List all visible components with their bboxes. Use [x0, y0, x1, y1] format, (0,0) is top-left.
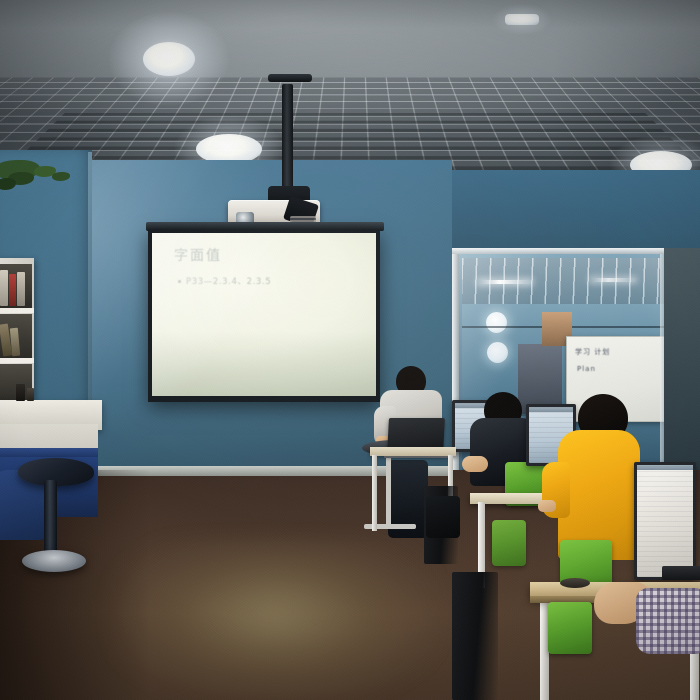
- whiteboard-text-line-1: 学习 计划: [575, 347, 610, 357]
- glass-frame-top: [452, 248, 700, 254]
- student-plaid-sleeve: [636, 588, 700, 654]
- bookshelf-shelf: [0, 358, 34, 363]
- classroom-photo: 字面值 P33—2.3.4、2.3.5 学习 计划 Plan: [0, 0, 700, 700]
- student-dark-shirt-arm: [462, 456, 488, 472]
- upper-right-wall: [452, 170, 700, 250]
- projection-screen: 字面值 P33—2.3.4、2.3.5: [152, 233, 376, 396]
- monitor-right: [634, 462, 696, 580]
- desk-rear-leg: [372, 455, 377, 531]
- round-table-post: [386, 452, 391, 528]
- ceiling-light-1: [143, 42, 195, 76]
- small-object-on-counter: [27, 388, 34, 401]
- wall-light-lower: [487, 342, 508, 363]
- bar-stool-base: [22, 550, 86, 572]
- strip-light-beyond-glass: [590, 278, 636, 282]
- screen-text-lines: [637, 465, 693, 577]
- chair-side[interactable]: [492, 520, 526, 566]
- light-bulb-icon: [143, 42, 195, 76]
- monitor-screen-document: [637, 465, 693, 577]
- whiteboard-text-line-2: Plan: [577, 365, 596, 373]
- book: [17, 272, 25, 306]
- bar-stool-post: [44, 480, 57, 558]
- floor-light-reflection: [110, 540, 440, 700]
- strip-light-beyond-glass: [478, 280, 532, 284]
- light-bulb-icon: [505, 14, 539, 25]
- wall-light-upper: [486, 312, 507, 333]
- book: [0, 270, 8, 306]
- student-yellow-shirt-hand: [538, 500, 556, 512]
- bag-on-floor: [426, 496, 460, 538]
- screen-sheen: [152, 233, 376, 396]
- bookshelf-shelf: [0, 308, 34, 313]
- chair-front[interactable]: [548, 602, 592, 654]
- mousepad-front: [560, 578, 590, 588]
- ceiling-light-5: [505, 14, 539, 25]
- book: [9, 274, 16, 306]
- right-dark-wall: [664, 248, 700, 498]
- small-object-on-counter: [16, 384, 25, 401]
- projector-ceiling-bracket: [268, 74, 312, 82]
- counter-accent-stripe: [0, 448, 98, 457]
- desk-rear: [370, 447, 456, 456]
- pc-tower-front: [452, 572, 498, 700]
- keyboard-front[interactable]: [662, 566, 700, 580]
- projector-mount-pole: [282, 84, 293, 192]
